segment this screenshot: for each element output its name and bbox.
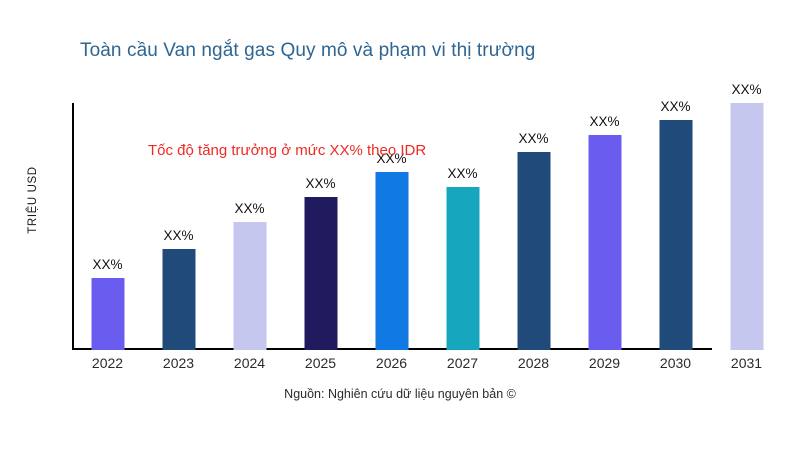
bar-2027[interactable] xyxy=(446,187,479,350)
x-axis-tick-labels: 2022202320242025202620272028202920302031 xyxy=(72,355,784,379)
bar-value-label-2030: XX% xyxy=(660,99,690,114)
bar-group-2031: XX% xyxy=(711,103,782,350)
bar-group-2027: XX% xyxy=(427,103,498,350)
bar-group-2030: XX% xyxy=(640,103,711,350)
bar-2028[interactable] xyxy=(517,152,550,350)
bar-group-2023: XX% xyxy=(143,103,214,350)
bar-value-label-2027: XX% xyxy=(447,166,477,181)
x-tick-2024: 2024 xyxy=(214,355,285,371)
x-tick-2027: 2027 xyxy=(427,355,498,371)
bar-2031[interactable] xyxy=(730,103,763,350)
bars-layer: XX%XX%XX%XX%XX%XX%XX%XX%XX%XX% xyxy=(72,103,784,350)
bar-group-2024: XX% xyxy=(214,103,285,350)
growth-rate-annotation: Tốc độ tăng trưởng ở mức XX% theo IDR xyxy=(148,142,426,159)
x-tick-2025: 2025 xyxy=(285,355,356,371)
source-note: Nguồn: Nghiên cứu dữ liệu nguyên bản © xyxy=(0,387,800,401)
x-tick-2026: 2026 xyxy=(356,355,427,371)
bar-group-2025: XX% xyxy=(285,103,356,350)
bar-value-label-2025: XX% xyxy=(305,176,335,191)
bar-2024[interactable] xyxy=(233,222,266,350)
x-tick-2030: 2030 xyxy=(640,355,711,371)
bar-value-label-2029: XX% xyxy=(589,114,619,129)
bar-2023[interactable] xyxy=(162,249,195,350)
x-tick-2023: 2023 xyxy=(143,355,214,371)
bar-2022[interactable] xyxy=(91,278,124,350)
bar-group-2026: XX% xyxy=(356,103,427,350)
bar-2030[interactable] xyxy=(659,120,692,350)
bar-2025[interactable] xyxy=(304,197,337,350)
bar-value-label-2023: XX% xyxy=(163,228,193,243)
y-axis-label-container: TRIỆU USD xyxy=(22,140,44,260)
bar-value-label-2024: XX% xyxy=(234,201,264,216)
bar-group-2022: XX% xyxy=(72,103,143,350)
bar-value-label-2028: XX% xyxy=(518,131,548,146)
bar-value-label-2031: XX% xyxy=(731,82,761,97)
bar-group-2028: XX% xyxy=(498,103,569,350)
chart-title: Toàn cầu Van ngắt gas Quy mô và phạm vi … xyxy=(80,40,535,62)
chart-container: Toàn cầu Van ngắt gas Quy mô và phạm vi … xyxy=(0,0,800,450)
x-tick-2022: 2022 xyxy=(72,355,143,371)
bar-2029[interactable] xyxy=(588,135,621,350)
x-tick-2029: 2029 xyxy=(569,355,640,371)
x-tick-2031: 2031 xyxy=(711,355,782,371)
y-axis-label: TRIỆU USD xyxy=(27,166,39,233)
bar-group-2029: XX% xyxy=(569,103,640,350)
x-tick-2028: 2028 xyxy=(498,355,569,371)
bar-value-label-2022: XX% xyxy=(92,257,122,272)
bar-2026[interactable] xyxy=(375,172,408,350)
